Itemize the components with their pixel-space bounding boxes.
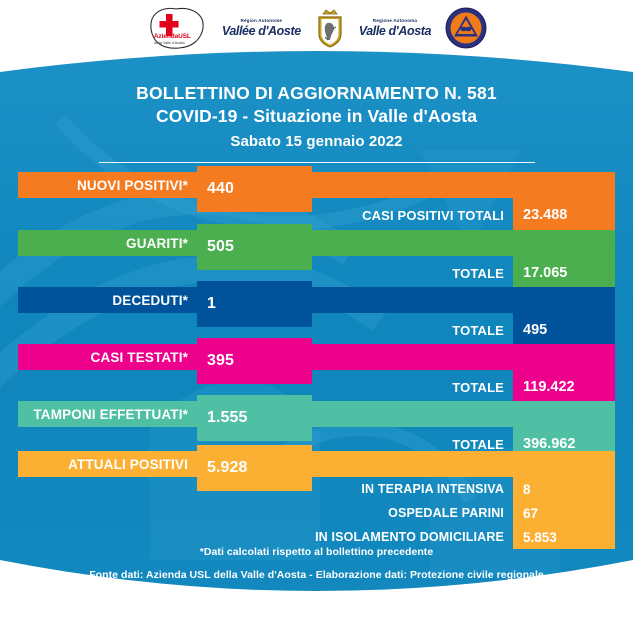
- valle-aosta-label: Valle d'Aosta: [359, 25, 431, 38]
- sub-value-block-deceduti: 495: [513, 313, 615, 347]
- breakdown-value-1: 67: [513, 504, 615, 522]
- footer-source: Fonte dati: Azienda USL della Valle d'Ao…: [0, 569, 633, 581]
- bulletin-number-line: BOLLETTINO DI AGGIORNAMENTO N. 581: [0, 82, 633, 105]
- sub-value-block-nuovi-positivi: 23.488: [513, 198, 615, 232]
- title-divider: [99, 162, 535, 163]
- valle-aosta-coat-of-arms: [315, 7, 345, 49]
- main-value-attuali-positivi: 5.928: [197, 459, 248, 477]
- bulletin-subject-line: COVID-19 - Situazione in Valle d'Aosta: [0, 105, 633, 128]
- region-autonome-vallee-aoste-logo: Région Autonome Vallée d'Aoste: [222, 5, 301, 51]
- main-value-deceduti: 1: [197, 295, 216, 313]
- breakdown-label-0: IN TERAPIA INTENSIVA: [18, 480, 513, 498]
- azienda-usl-valle-aosta-logo: AziendaUSL della Valle d'Aosta: [146, 5, 208, 51]
- sub-value-block-casi-testati: 119.422: [513, 370, 615, 404]
- bulletin-date-line: Sabato 15 gennaio 2022: [0, 133, 633, 150]
- sub-value-casi-testati: 119.422: [513, 379, 575, 395]
- usl-logo-text: AziendaUSL della Valle d'Aosta: [154, 34, 191, 45]
- logo-bar: AziendaUSL della Valle d'Aosta Région Au…: [0, 4, 633, 52]
- footer-note: *Dati calcolati rispetto al bollettino p…: [0, 546, 633, 558]
- breakdown-label-1: OSPEDALE PARINI: [18, 504, 513, 522]
- main-value-nuovi-positivi: 440: [197, 180, 234, 198]
- vallee-aoste-label: Vallée d'Aoste: [222, 25, 301, 38]
- main-value-guariti: 505: [197, 238, 234, 256]
- breakdown-label-2: IN ISOLAMENTO DOMICILIARE: [18, 528, 513, 546]
- main-label-attuali-positivi: ATTUALI POSITIVI: [18, 451, 197, 477]
- sub-value-guariti: 17.065: [513, 265, 567, 281]
- regione-autonoma-valle-aosta-logo: Regione Autonoma Valle d'Aosta: [359, 5, 431, 51]
- regione-autonoma-label: Regione Autonoma: [373, 19, 417, 24]
- sub-value-nuovi-positivi: 23.488: [513, 207, 567, 223]
- main-value-casi-testati: 395: [197, 352, 234, 370]
- main-label-tamponi-effettuati: TAMPONI EFFETTUATI*: [18, 401, 197, 427]
- protezione-civile-logo: [445, 7, 487, 49]
- breakdown-value-2: 5.853: [513, 528, 615, 546]
- main-label-guariti: GUARITI*: [18, 230, 197, 256]
- breakdown-value-0: 8: [513, 480, 615, 498]
- region-autonome-label: Région Autonome: [241, 19, 283, 24]
- main-value-tamponi-effettuati: 1.555: [197, 409, 248, 427]
- footer: *Dati calcolati rispetto al bollettino p…: [0, 546, 633, 581]
- main-label-casi-testati: CASI TESTATI*: [18, 344, 197, 370]
- page-title: BOLLETTINO DI AGGIORNAMENTO N. 581 COVID…: [0, 82, 633, 150]
- sub-value-tamponi-effettuati: 396.962: [513, 436, 575, 452]
- main-label-deceduti: DECEDUTI*: [18, 287, 197, 313]
- sub-value-deceduti: 495: [513, 322, 547, 338]
- main-label-nuovi-positivi: NUOVI POSITIVI*: [18, 172, 197, 198]
- sub-value-block-guariti: 17.065: [513, 256, 615, 290]
